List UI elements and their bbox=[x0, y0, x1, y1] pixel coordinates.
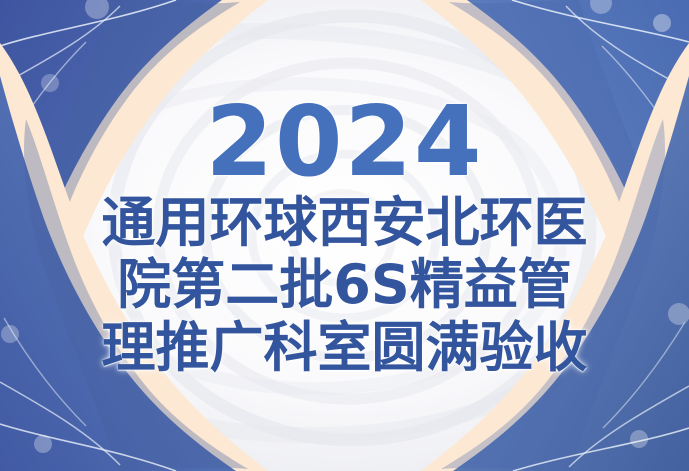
headline-block: 通用环球西安北环医 院第二批6S精益管 理推广科室圆满验收 bbox=[102, 194, 588, 376]
year-heading: 2024 bbox=[206, 96, 484, 188]
headline-line-3: 理推广科室圆满验收 bbox=[102, 319, 588, 376]
poster-canvas: 2024 通用环球西安北环医 院第二批6S精益管 理推广科室圆满验收 bbox=[0, 0, 689, 471]
poster-text-block: 2024 通用环球西安北环医 院第二批6S精益管 理推广科室圆满验收 bbox=[0, 0, 689, 471]
headline-line-1: 通用环球西安北环医 bbox=[102, 194, 588, 251]
headline-line-2: 院第二批6S精益管 bbox=[117, 256, 571, 313]
